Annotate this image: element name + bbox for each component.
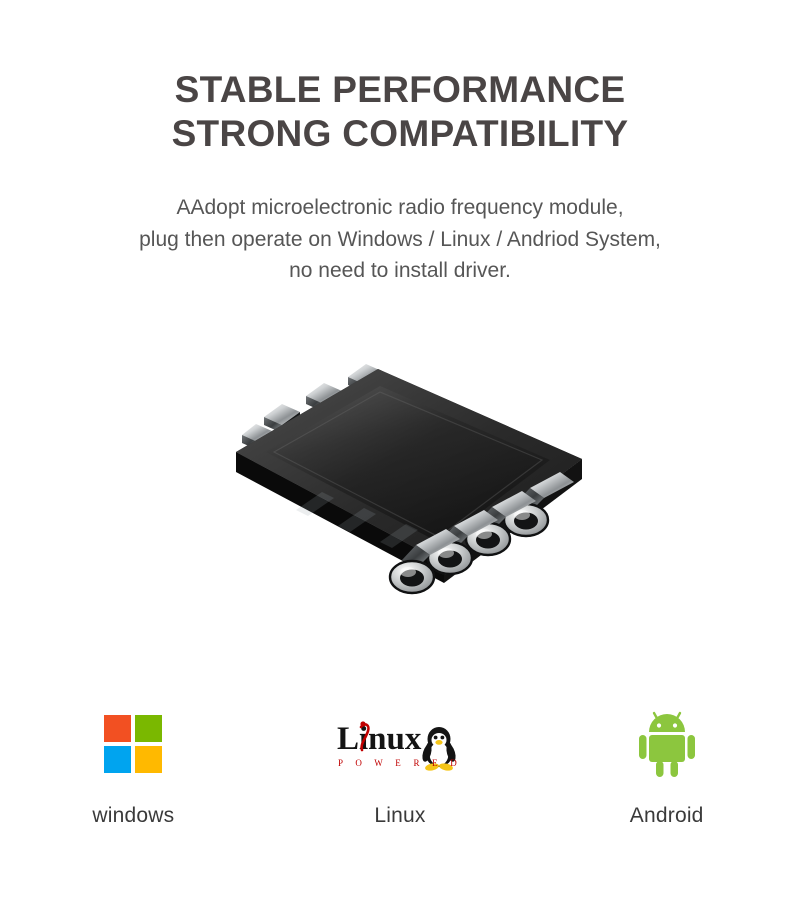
os-label-linux: Linux [374, 804, 425, 828]
android-logo [637, 706, 697, 782]
linux-tagline: P O W E R E D [338, 758, 462, 768]
subcopy-line-2: plug then operate on Windows / Linux / A… [0, 224, 800, 256]
product-image [230, 360, 590, 630]
windows-square-top-right [135, 715, 162, 742]
os-item-linux: Linux [267, 706, 534, 828]
android-robot-logo-icon [637, 710, 697, 778]
windows-square-bottom-left [104, 746, 131, 773]
headline-line-1: STABLE PERFORMANCE [0, 68, 800, 112]
os-label-windows: windows [92, 804, 174, 828]
os-item-windows: windows [0, 706, 267, 828]
linux-powered-logo-icon: Linux [335, 713, 465, 775]
os-label-android: Android [630, 804, 704, 828]
linux-accent-dot [360, 721, 365, 726]
page-subcopy: AAdopt microelectronic radio frequency m… [0, 192, 800, 287]
linux-wordmark: Linux [337, 721, 422, 757]
microelectronic-rf-module-chip-icon [230, 360, 590, 630]
windows-square-bottom-right [135, 746, 162, 773]
headline-line-2: STRONG COMPATIBILITY [0, 112, 800, 156]
page-headline: STABLE PERFORMANCE STRONG COMPATIBILITY [0, 68, 800, 156]
subcopy-line-1: AAdopt microelectronic radio frequency m… [0, 192, 800, 224]
windows-logo [104, 706, 162, 782]
windows-logo-icon [104, 715, 162, 773]
os-item-android: Android [533, 706, 800, 828]
android-eye-left [657, 723, 661, 727]
subcopy-line-3: no need to install driver. [0, 255, 800, 287]
android-eye-right [673, 723, 677, 727]
linux-logo: Linux [335, 706, 465, 782]
windows-square-top-left [104, 715, 131, 742]
os-compatibility-row: windows Linux [0, 706, 800, 828]
